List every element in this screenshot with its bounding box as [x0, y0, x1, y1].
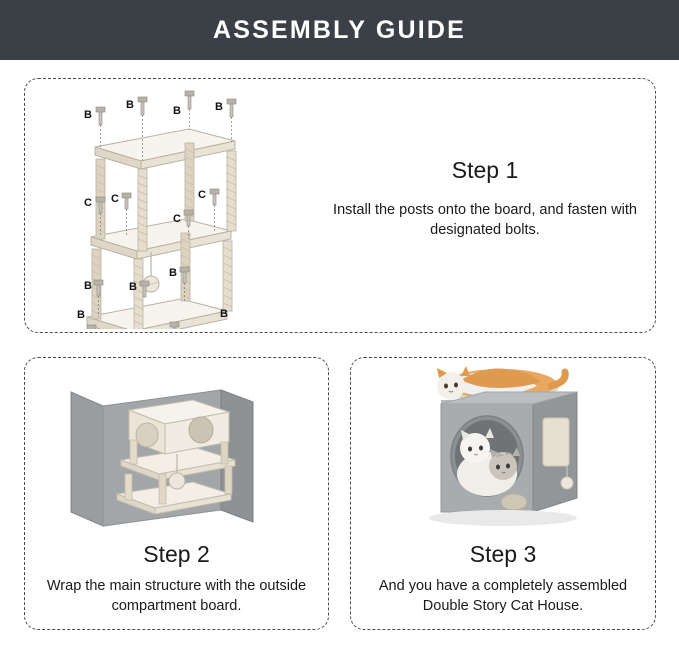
step-2-title: Step 2 — [25, 541, 328, 568]
label-b-5: B — [84, 280, 92, 292]
bottom-board — [87, 299, 227, 329]
brand-badge — [501, 494, 527, 510]
label-c-1: C — [84, 197, 92, 209]
label-b-9: B — [220, 308, 228, 320]
bolt-icon — [210, 189, 219, 231]
finished-cat-house-photo — [351, 362, 657, 542]
bolt-icon — [87, 325, 96, 329]
page-title: ASSEMBLY GUIDE — [213, 16, 466, 45]
cat-tower-wrap-diagram — [25, 362, 330, 542]
step-2-text-block: Step 2 Wrap the main structure with the … — [25, 541, 328, 616]
header-banner: ASSEMBLY GUIDE — [0, 0, 679, 60]
label-b-2: B — [126, 99, 134, 111]
left-wrap-panel — [71, 392, 103, 526]
step-3-panel: Step 3 And you have a completely assembl… — [350, 357, 656, 630]
cube-side-hole — [189, 417, 213, 443]
step-1-panel: B B B B C C C C — [24, 78, 656, 333]
label-c-4: C — [173, 213, 181, 225]
tower-post — [130, 440, 137, 464]
bolt-icon — [96, 107, 105, 147]
bolt-icon — [185, 91, 194, 130]
step-1-illustration: B B B B C C C C — [65, 89, 335, 329]
label-b-3: B — [173, 105, 181, 117]
bolt-icon — [227, 99, 236, 142]
label-b-8: B — [77, 309, 85, 321]
step-3-text-block: Step 3 And you have a completely assembl… — [351, 541, 655, 616]
label-b-4: B — [215, 101, 223, 113]
label-c-2: C — [111, 193, 119, 205]
top-board — [95, 129, 235, 169]
step-2-panel: Step 2 Wrap the main structure with the … — [24, 357, 329, 630]
step-1-text-block: Step 1 Install the posts onto the board,… — [325, 157, 645, 240]
cat-house-body — [429, 392, 577, 526]
middle-board — [91, 219, 231, 259]
cube-entry-hole — [136, 423, 158, 447]
step-2-illustration — [25, 362, 328, 542]
step-1-description: Install the posts onto the board, and fa… — [325, 200, 645, 240]
step-1-title: Step 1 — [325, 157, 645, 184]
step-3-description: And you have a completely assembled Doub… — [351, 576, 655, 616]
step-2-description: Wrap the main structure with the outside… — [25, 576, 328, 616]
step-3-illustration — [351, 362, 655, 542]
tower-post — [125, 474, 132, 500]
label-b-7: B — [129, 281, 137, 293]
tower-post — [221, 442, 228, 464]
cat-tower-exploded-diagram: B B B B C C C C — [65, 89, 335, 329]
side-scratch-pad — [543, 418, 569, 466]
tower-post — [225, 466, 232, 494]
tower-post — [159, 474, 166, 504]
label-b-6: B — [169, 267, 177, 279]
step-3-title: Step 3 — [351, 541, 655, 568]
bolt-icon — [122, 193, 131, 235]
label-c-3: C — [198, 189, 206, 201]
label-b-1: B — [84, 109, 92, 121]
